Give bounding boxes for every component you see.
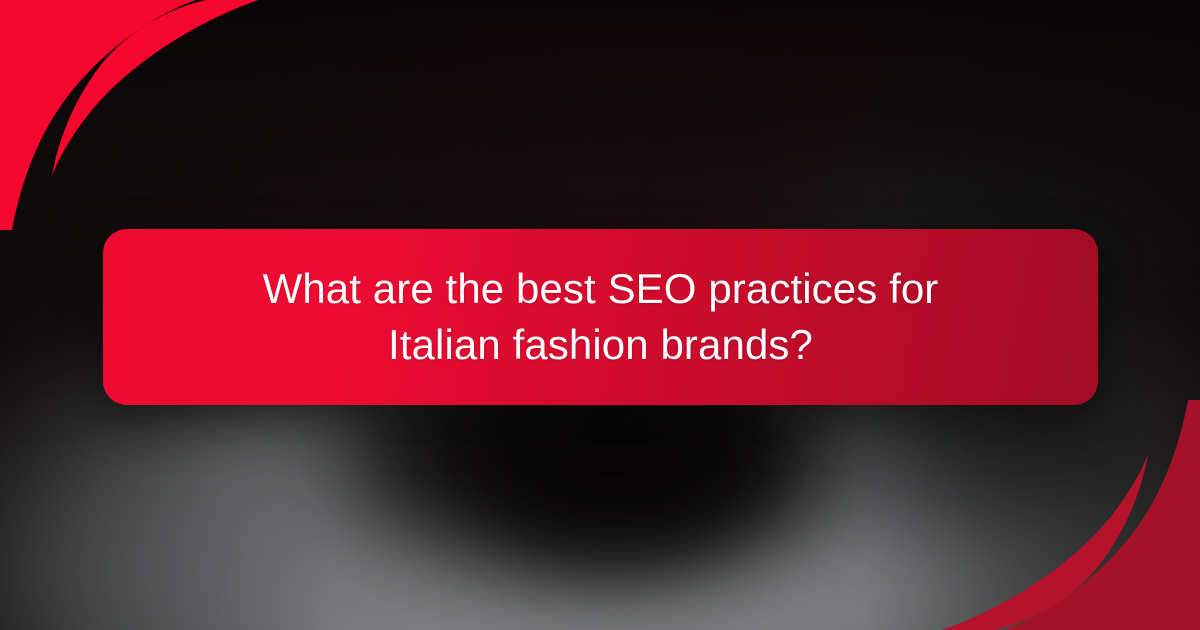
og-image-canvas: What are the best SEO practices for Ital…: [0, 0, 1200, 630]
question-card: What are the best SEO practices for Ital…: [103, 229, 1098, 405]
card-title: What are the best SEO practices for Ital…: [205, 261, 997, 373]
